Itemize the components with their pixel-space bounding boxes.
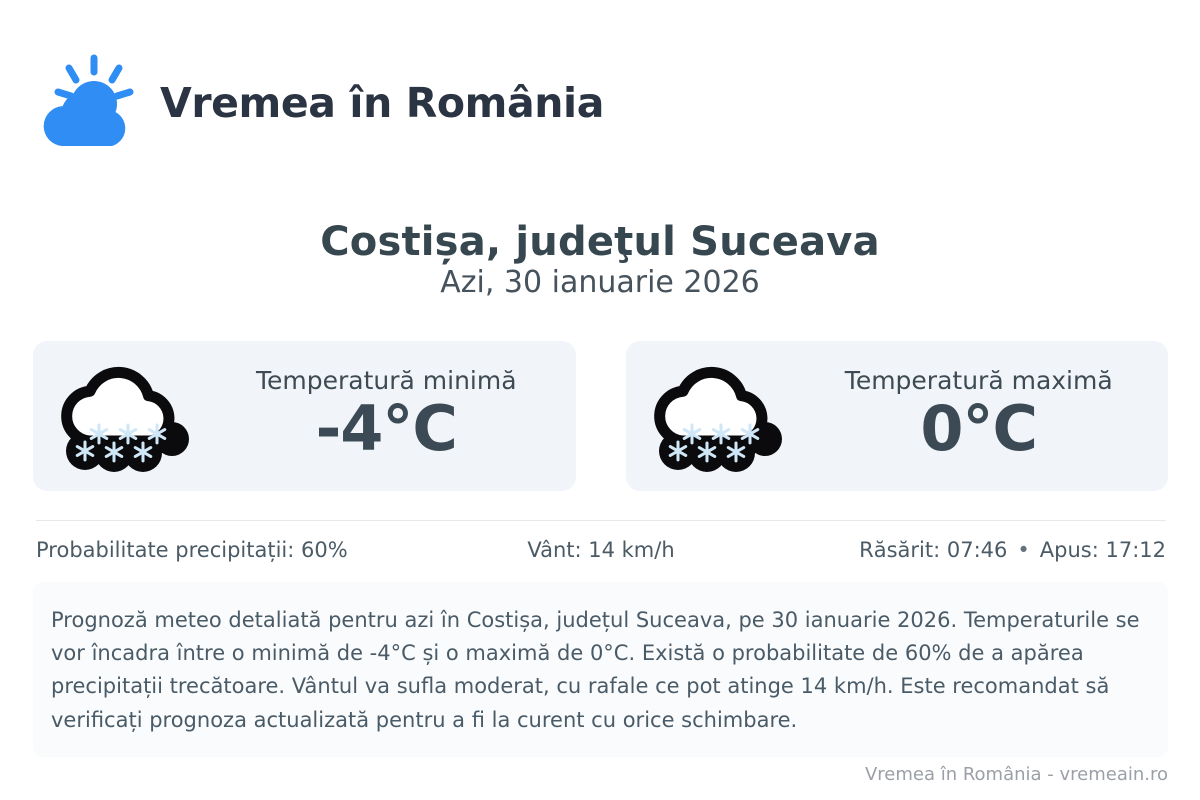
brand-name: Vremea în România (160, 80, 604, 127)
min-temperature-body: Temperatură minimă -4°C (215, 367, 558, 466)
forecast-description: Prognoză meteo detaliată pentru azi în C… (33, 582, 1168, 757)
min-temperature-label: Temperatură minimă (256, 367, 517, 395)
max-temperature-card: Temperatură maximă 0°C (626, 341, 1169, 491)
weather-stats-row: Probabilitate precipitații: 60% Vânt: 14… (36, 538, 1166, 562)
snow-cloud-icon (650, 357, 790, 475)
page-subtitle: Azi, 30 ianuarie 2026 (0, 265, 1200, 300)
max-temperature-value: 0°C (920, 396, 1037, 461)
weather-page: Vremea în România Costișa, judeţul Sucea… (0, 0, 1200, 800)
sunrise-value: Răsărit: 07:46 (859, 538, 1007, 562)
stats-divider (36, 520, 1166, 521)
site-header: Vremea în România (36, 52, 604, 156)
max-temperature-label: Temperatură maximă (845, 367, 1113, 395)
wind-stat: Vânt: 14 km/h (413, 538, 790, 562)
min-temperature-card: Temperatură minimă -4°C (33, 341, 576, 491)
sun-times-stat: Răsărit: 07:46•Apus: 17:12 (789, 538, 1166, 562)
min-temperature-value: -4°C (316, 396, 457, 461)
temperature-cards: Temperatură minimă -4°C (33, 341, 1168, 491)
sun-behind-cloud-icon (36, 52, 142, 156)
snow-cloud-icon (57, 357, 197, 475)
sunset-value: Apus: 17:12 (1040, 538, 1166, 562)
site-footer: Vremea în România - vremeain.ro (865, 764, 1168, 785)
page-title: Costișa, judeţul Suceava (0, 219, 1200, 265)
sun-times-separator: • (1007, 538, 1039, 562)
max-temperature-body: Temperatură maximă 0°C (808, 367, 1151, 466)
precipitation-stat: Probabilitate precipitații: 60% (36, 538, 413, 562)
